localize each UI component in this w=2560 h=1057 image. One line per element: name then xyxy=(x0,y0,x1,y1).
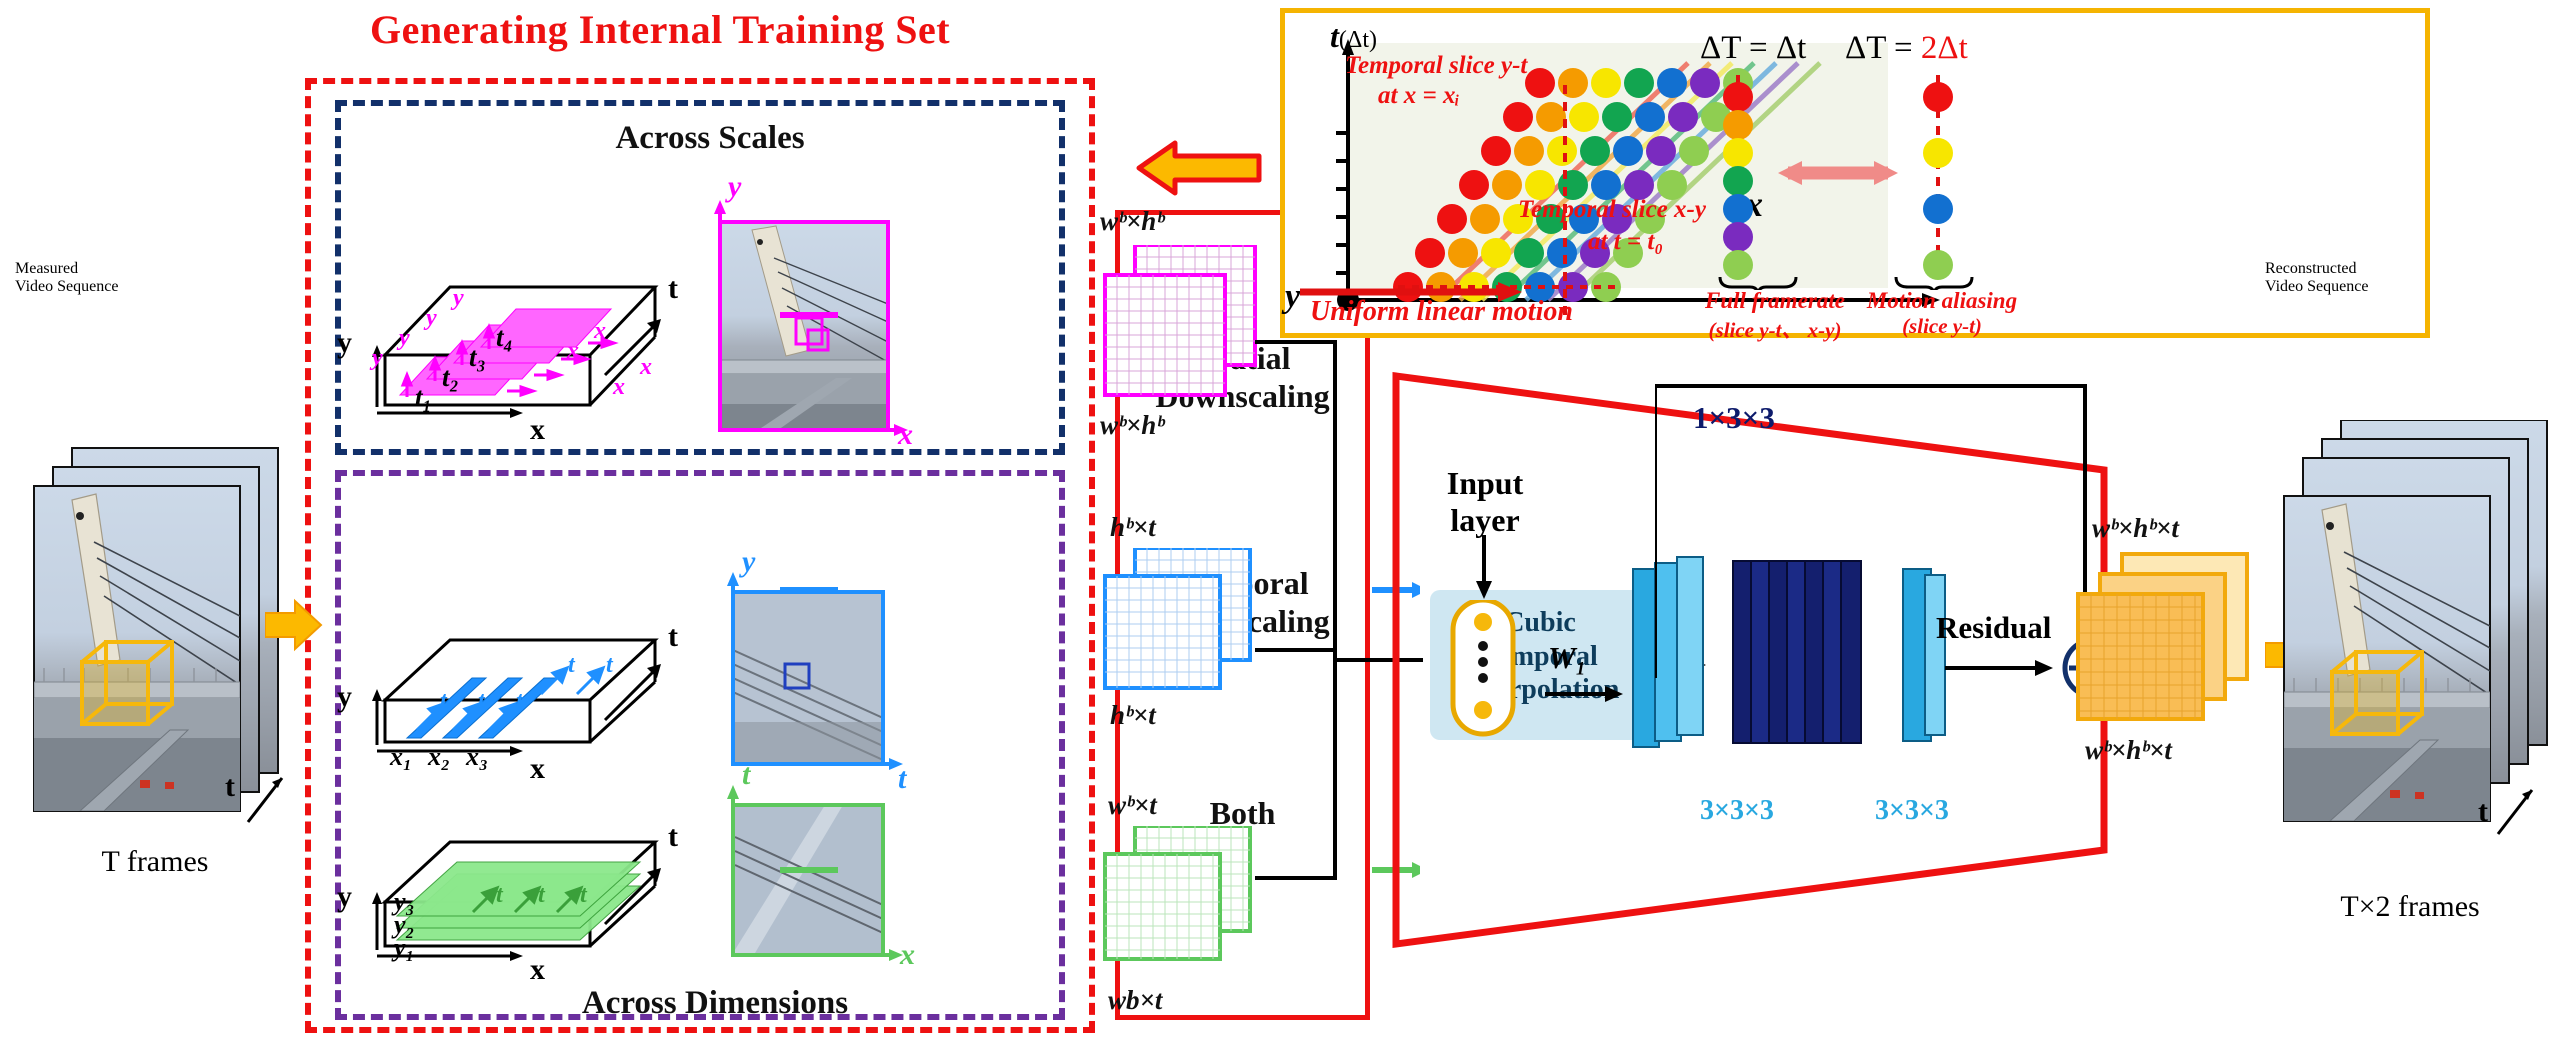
w1-arrow xyxy=(1545,678,1635,714)
arrow-lbl-t3: t xyxy=(516,688,523,715)
patch-label-green-bottom: wb×t xyxy=(1108,985,1162,1016)
lattice-dot xyxy=(1580,136,1610,166)
lattice-dot xyxy=(1547,238,1577,268)
full-framerate-dot xyxy=(1723,110,1753,140)
arrow-lbl-t2: t xyxy=(478,688,485,715)
arrow-lbl-x3: x xyxy=(567,338,579,365)
thumb2-y-axis: y xyxy=(742,545,755,579)
cuboid-dims-t-axis: t xyxy=(668,820,678,854)
lattice-dot xyxy=(1514,238,1544,268)
measured-line2: Video Sequence xyxy=(15,278,285,296)
measured-t-axis-label: t xyxy=(225,770,235,804)
arrow-lbl-x2: x xyxy=(640,354,652,381)
lattice-dot xyxy=(1514,136,1544,166)
cuboid-temporal-x-axis: x xyxy=(530,752,545,786)
aliased-dot xyxy=(1923,82,1953,112)
input-layer-arrow xyxy=(1470,535,1500,603)
patch-label-magenta-top: wᵇ×hᵇ xyxy=(1100,205,1164,238)
patch-magenta xyxy=(1095,245,1275,425)
t2-frames-label: T×2 frames xyxy=(2290,890,2530,924)
thumb1-y-axis: y xyxy=(728,170,741,204)
input-layer-label: Input layer xyxy=(1420,465,1550,539)
legend-full-framerate: Full framerate (slice y-t、 x-y) xyxy=(1700,288,1850,344)
output-patch xyxy=(2070,550,2280,750)
conv-to-sum-arrow xyxy=(1945,650,2065,690)
lattice-dot xyxy=(1547,136,1577,166)
feedback-arrow-icon xyxy=(1135,135,1265,205)
lattice-dot xyxy=(1503,102,1533,132)
arrow-lbl-gt2: t xyxy=(538,882,545,909)
full-framerate-dot xyxy=(1723,194,1753,224)
full-framerate-dot xyxy=(1723,250,1753,280)
tick-t3: t₃ xyxy=(469,342,486,373)
dT-eq-dt-label: ΔT = Δt xyxy=(1700,30,1806,67)
recon-line2: Video Sequence xyxy=(2265,278,2545,296)
tick-t4: t₄ xyxy=(496,322,513,353)
page-title: Generating Internal Training Set xyxy=(310,6,1010,53)
cuboid-scales-y-axis: y xyxy=(337,326,352,360)
full-framerate-dot xyxy=(1723,82,1753,112)
cuboid-scales-x-axis: x xyxy=(530,413,545,447)
arrow-lbl-x4: x xyxy=(594,318,606,345)
kernel-left-label: 3×3×3 xyxy=(1700,795,1774,827)
kernel-right-label: 3×3×3 xyxy=(1875,795,1949,827)
dT-comparison xyxy=(1690,75,2010,290)
patch-label-blue-bottom: hᵇ×t xyxy=(1110,700,1156,731)
lattice-dot xyxy=(1448,238,1478,268)
lattice-dot xyxy=(1558,68,1588,98)
lattice-dot xyxy=(1481,136,1511,166)
across-dimensions-heading: Across Dimensions xyxy=(545,985,885,1022)
arrow-lbl-gt1: t xyxy=(496,882,503,909)
patch-label-green-top: wᵇ×t xyxy=(1108,790,1157,821)
arrow-lbl-y1: y xyxy=(372,345,383,372)
reconstructed-video-label: Reconstructed Video Sequence xyxy=(2265,260,2545,296)
lattice-dot xyxy=(1569,102,1599,132)
residual-label: Residual xyxy=(1936,610,2051,646)
recon-t-axis-label: t xyxy=(2478,795,2488,829)
arrow-lbl-x1: x xyxy=(613,374,625,401)
cuboid-dims-x-axis: x xyxy=(530,953,545,987)
thumb3-y-axis: t xyxy=(742,758,750,792)
arrow-lbl-t5: t xyxy=(606,652,613,679)
tick-x1: x₁ xyxy=(390,742,412,772)
input-arrow-icon xyxy=(265,595,325,655)
cuboid-temporal-t-axis: t xyxy=(668,620,678,654)
lattice-dot xyxy=(1415,238,1445,268)
tick-x3: x₃ xyxy=(466,742,488,772)
lattice-dot xyxy=(1613,136,1643,166)
full-framerate-dot xyxy=(1723,222,1753,252)
arrow-lbl-y2: y xyxy=(399,325,410,352)
recon-line1: Reconstructed xyxy=(2265,260,2545,278)
lattice-dot xyxy=(1635,102,1665,132)
lattice-dot xyxy=(1525,68,1555,98)
tick-t1: t₁ xyxy=(415,382,432,413)
patch-label-magenta-bottom: wᵇ×hᵇ xyxy=(1100,410,1164,441)
dT-eq-2dt-label: ΔT = 2Δt xyxy=(1845,30,1968,67)
measured-line1: Measured xyxy=(15,260,285,278)
t-frames-label: T frames xyxy=(40,845,270,879)
slice-yt-label-l2: at x = xᵢ xyxy=(1378,82,1460,110)
lattice-dot xyxy=(1591,68,1621,98)
lattice-dot xyxy=(1624,68,1654,98)
across-scales-heading: Across Scales xyxy=(560,120,860,157)
lattice-dot xyxy=(1470,204,1500,234)
lattice-dot xyxy=(1481,238,1511,268)
lattice-dot xyxy=(1437,204,1467,234)
cuboid-scales-t-axis: t xyxy=(668,272,678,306)
cuboid-temporal-y-axis: y xyxy=(337,680,352,714)
arrow-lbl-y4: y xyxy=(453,285,464,312)
inset-t-axis-label: t(Δt) xyxy=(1330,18,1377,55)
measured-video-label: Measured Video Sequence xyxy=(15,260,285,296)
fc-layer xyxy=(1425,600,1545,740)
lattice-dot xyxy=(1646,136,1676,166)
measured-video-stack xyxy=(20,430,290,830)
uniform-motion-label: Uniform linear motion xyxy=(1310,296,1573,328)
full-framerate-dot xyxy=(1723,166,1753,196)
tick-y3: y₃ xyxy=(394,887,415,917)
slice-xy-label-l2: at t = t₀ xyxy=(1588,228,1663,256)
aliased-dot xyxy=(1923,250,1953,280)
full-framerate-dot xyxy=(1723,138,1753,168)
w1-label: W₁ xyxy=(1548,640,1586,676)
patch-green xyxy=(1095,826,1275,996)
cuboid-dims-y-axis: y xyxy=(337,880,352,914)
patch-label-blue-top: hᵇ×t xyxy=(1110,512,1156,543)
patch-blue xyxy=(1095,548,1275,718)
lattice-dot xyxy=(1536,102,1566,132)
tick-x2: x₂ xyxy=(428,742,450,772)
slice-yt-label-l1: Temporal slice y-t xyxy=(1345,52,1527,80)
lattice-dot xyxy=(1459,170,1489,200)
arrow-lbl-gt3: t xyxy=(580,882,587,909)
inset-y-axis-label: y xyxy=(1285,278,1300,316)
lattice-dot xyxy=(1602,102,1632,132)
legend-motion-aliasing: Motion aliasing (slice y-t) xyxy=(1862,288,2022,339)
aliased-dot xyxy=(1923,138,1953,168)
arrow-lbl-y3: y xyxy=(426,305,437,332)
reconstructed-video-stack xyxy=(2270,420,2550,850)
aliased-dot xyxy=(1923,194,1953,224)
lattice-dot xyxy=(1657,68,1687,98)
arrow-lbl-t1: t xyxy=(440,688,447,715)
arrow-lbl-t4: t xyxy=(568,652,575,679)
output-patch-label-bottom: wᵇ×hᵇ×t xyxy=(2085,735,2172,766)
slice-xy-label-l1: Temporal slice x-y xyxy=(1518,196,1706,224)
tick-t2: t₂ xyxy=(442,362,459,393)
measured-stack-svg xyxy=(20,430,290,830)
reconstructed-stack-svg xyxy=(2270,420,2550,850)
output-patch-label-top: wᵇ×hᵇ×t xyxy=(2092,513,2179,544)
